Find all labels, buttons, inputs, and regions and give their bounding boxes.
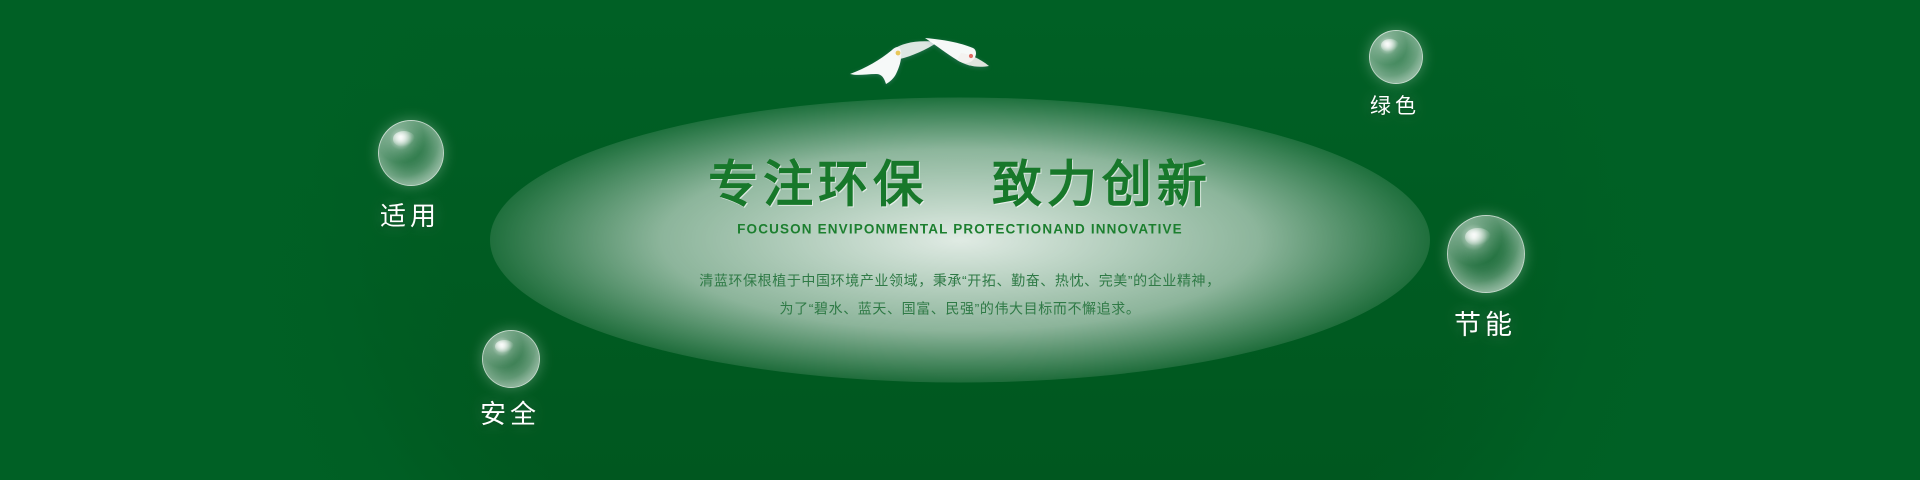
bubble-icon-jieneng — [1447, 215, 1525, 293]
feature-label-jieneng: 节能 — [1400, 303, 1570, 342]
bubble-icon-shiyong — [378, 120, 444, 186]
feature-anquan[interactable]: 安全 — [430, 330, 590, 431]
headline-part-1: 专注环保 — [708, 157, 928, 213]
feature-shiyong[interactable]: 适用 — [330, 120, 490, 233]
headline-subtitle: FOCUSON ENVIPONMENTAL PROTECTIONAND INNO… — [580, 222, 1340, 237]
bubble-icon-anquan — [482, 330, 540, 388]
description-line-1: 清蓝环保根植于中国环境产业领域，秉承“开拓、勤奋、热忱、完美”的企业精神， — [580, 267, 1340, 295]
feature-lvse[interactable]: 绿色 — [1320, 30, 1470, 120]
page-title: 专注环保 致力创新 — [580, 158, 1340, 213]
feature-label-lvse: 绿色 — [1320, 90, 1470, 120]
banner-copy: 专注环保 致力创新 FOCUSON ENVIPONMENTAL PROTECTI… — [580, 158, 1340, 323]
headline-part-2: 致力创新 — [992, 157, 1212, 213]
feature-label-shiyong: 适用 — [330, 196, 490, 233]
hero-banner: 适用 安全 绿色 节能 专注环保 致力创新 FOCUSON ENVIPONMEN… — [0, 0, 1920, 480]
feature-label-anquan: 安全 — [430, 394, 590, 431]
banner-description: 清蓝环保根植于中国环境产业领域，秉承“开拓、勤奋、热忱、完美”的企业精神， 为了… — [580, 267, 1340, 323]
description-line-2: 为了“碧水、蓝天、国富、民强”的伟大目标而不懈追求。 — [580, 295, 1340, 323]
bubble-icon-lvse — [1369, 30, 1423, 84]
